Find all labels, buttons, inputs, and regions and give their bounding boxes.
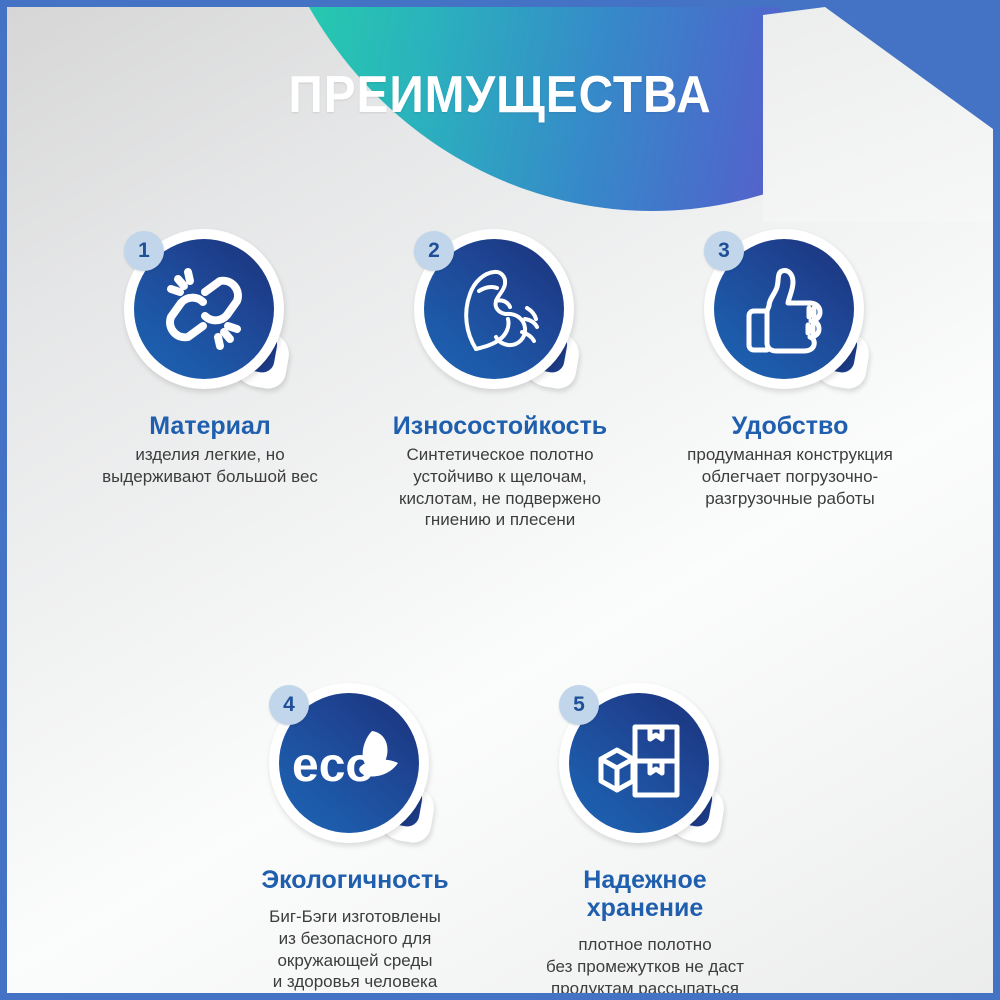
feature-description: Синтетическое полотно устойчиво к щелоча… — [399, 444, 601, 531]
icon-bubble: 2 — [414, 229, 586, 394]
icon-bubble: 3 — [704, 229, 876, 394]
feature-description: изделия легкие, но выдерживают большой в… — [102, 444, 318, 488]
poster-canvas: ПРЕИМУЩЕСТВА — [7, 7, 993, 993]
feature-number-badge: 5 — [559, 685, 599, 725]
feature-number-badge: 1 — [124, 231, 164, 271]
feature-title: Удобство — [732, 412, 849, 440]
icon-bubble: eco 4 — [269, 683, 441, 848]
features-grid: 1 Материал изделия легкие, но выдерживаю… — [7, 229, 993, 993]
page-title: ПРЕИМУЩЕСТВА — [46, 65, 953, 125]
feature-card-storage[interactable]: 5 Надежное хранение плотное полотно без … — [500, 683, 790, 993]
icon-bubble: 1 — [124, 229, 296, 394]
feature-card-durability[interactable]: 2 Износостойкость Синтетическое полотно … — [355, 229, 645, 531]
infographic-poster: ПРЕИМУЩЕСТВА — [0, 0, 1000, 1000]
feature-title: Износостойкость — [393, 412, 607, 440]
icon-bubble: 5 — [559, 683, 731, 848]
feature-description: Биг-Бэги изготовлены из безопасного для … — [234, 906, 476, 993]
feature-title: Экологичность — [261, 866, 448, 894]
feature-card-ecology[interactable]: eco 4 Экологичность Биг-Бэги изг — [210, 683, 500, 993]
feature-number-badge: 4 — [269, 685, 309, 725]
feature-card-material[interactable]: 1 Материал изделия легкие, но выдерживаю… — [65, 229, 355, 488]
feature-title: Надежное хранение — [583, 866, 706, 922]
feature-number-badge: 2 — [414, 231, 454, 271]
feature-title: Материал — [149, 412, 271, 440]
feature-description: плотное полотно без промежутков не даст … — [532, 934, 759, 993]
features-row-top: 1 Материал изделия легкие, но выдерживаю… — [7, 229, 993, 531]
feature-card-convenience[interactable]: 3 Удобство продуманная конструкция облег… — [645, 229, 935, 509]
feature-number-badge: 3 — [704, 231, 744, 271]
feature-description: продуманная конструкция облегчает погруз… — [687, 444, 893, 509]
features-row-bottom: eco 4 Экологичность Биг-Бэги изг — [7, 683, 993, 993]
